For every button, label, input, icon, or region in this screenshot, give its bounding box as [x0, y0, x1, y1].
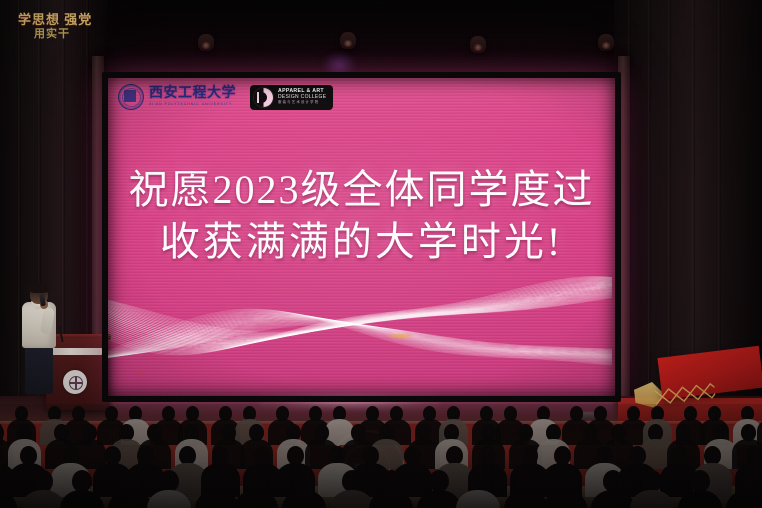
- audience-head: [246, 470, 266, 492]
- audience-head: [603, 470, 623, 492]
- audience-head: [0, 424, 4, 441]
- led-pixel-artifact: [138, 371, 142, 374]
- spot-beam: [322, 52, 356, 78]
- audience-head: [516, 470, 536, 492]
- audience-head: [362, 446, 379, 465]
- audience-head: [72, 470, 92, 492]
- stage-lamp-icon: [340, 32, 356, 49]
- audience-head: [429, 470, 449, 492]
- university-name-cn: 西安工程大学: [149, 87, 236, 101]
- university-seal-icon: [118, 84, 144, 110]
- audience-head: [329, 446, 346, 465]
- audience-head: [713, 424, 728, 441]
- audience-head: [286, 424, 301, 441]
- audience-head: [294, 470, 314, 492]
- audience-head: [746, 446, 762, 465]
- audience-head: [120, 470, 140, 492]
- wave-graphic: [108, 268, 615, 396]
- audience-head: [416, 424, 431, 441]
- audience-head: [82, 424, 97, 441]
- audience-head: [518, 424, 533, 441]
- audience-head: [62, 446, 79, 465]
- headline-line-2: 收获满满的大学时光!: [108, 216, 615, 268]
- audience-head: [33, 470, 53, 492]
- speaker-legs: [25, 346, 53, 394]
- audience-head: [738, 470, 758, 492]
- audience-head: [404, 446, 421, 465]
- screen-logo-bar: 西安工程大学 XI'AN POLYTECHNIC UNIVERSITY APPA…: [118, 84, 333, 110]
- audience-head: [690, 470, 710, 492]
- audience-head: [351, 424, 366, 441]
- led-screen: 西安工程大学 XI'AN POLYTECHNIC UNIVERSITY APPA…: [108, 78, 615, 396]
- college-logo: APPAREL & ART DESIGN COLLEGE 服装与艺术设计学院: [250, 85, 333, 110]
- audience-head: [212, 446, 229, 465]
- audience-head: [137, 446, 154, 465]
- audience-head: [287, 446, 304, 465]
- audience-head: [479, 446, 496, 465]
- speaker-hair: [29, 283, 49, 293]
- audience-head: [17, 424, 32, 441]
- audience-head: [481, 424, 496, 441]
- stage-lamp-icon: [198, 34, 214, 51]
- audience-head: [546, 424, 561, 441]
- audience-head: [314, 424, 329, 441]
- audience: [0, 404, 762, 508]
- led-pixel-artifact: [388, 334, 413, 338]
- audience-head: [596, 446, 613, 465]
- auditorium-photo: 西安工程大学 XI'AN POLYTECHNIC UNIVERSITY APPA…: [0, 0, 762, 508]
- audience-head: [611, 424, 626, 441]
- audience-head: [249, 424, 264, 441]
- audience-head: [342, 470, 362, 492]
- podium-seal-icon: [63, 370, 87, 394]
- audience-head: [119, 424, 134, 441]
- audience-head: [184, 424, 199, 441]
- audience-head: [642, 470, 662, 492]
- banner-text-sub: 用实干: [34, 25, 70, 41]
- speaker-presenter: [18, 284, 62, 412]
- audience-head: [207, 470, 227, 492]
- audience-head: [583, 424, 598, 441]
- audience-head: [444, 424, 459, 441]
- university-name-en: XI'AN POLYTECHNIC UNIVERSITY: [149, 103, 236, 107]
- screen-headline: 祝愿2023级全体同学度过 收获满满的大学时光!: [108, 164, 615, 268]
- stage-lamp-icon: [470, 36, 486, 53]
- audience-head: [379, 424, 394, 441]
- audience-head: [521, 446, 538, 465]
- audience-head: [54, 424, 69, 441]
- audience-head: [179, 446, 196, 465]
- stage-lamp-icon: [598, 34, 614, 51]
- audience-head: [446, 446, 463, 465]
- audience-head: [704, 446, 721, 465]
- audience-head: [648, 424, 663, 441]
- audience-head: [147, 424, 162, 441]
- audience-head: [671, 446, 688, 465]
- audience-head: [159, 470, 179, 492]
- college-name-line3: 服装与艺术设计学院: [278, 101, 326, 105]
- audience-head: [555, 470, 575, 492]
- apparel-art-circle-icon: [254, 88, 273, 107]
- audience-head: [468, 470, 488, 492]
- audience-head: [20, 446, 37, 465]
- audience-head: [629, 446, 646, 465]
- proscenium-right: [618, 56, 630, 404]
- audience-head: [381, 470, 401, 492]
- audience-head: [104, 446, 121, 465]
- audience-head: [554, 446, 571, 465]
- audience-head: [676, 424, 691, 441]
- university-logo: 西安工程大学 XI'AN POLYTECHNIC UNIVERSITY: [118, 84, 236, 110]
- audience-head: [221, 424, 236, 441]
- audience-head: [741, 424, 756, 441]
- audience-head: [254, 446, 271, 465]
- headline-line-1: 祝愿2023级全体同学度过: [108, 164, 615, 216]
